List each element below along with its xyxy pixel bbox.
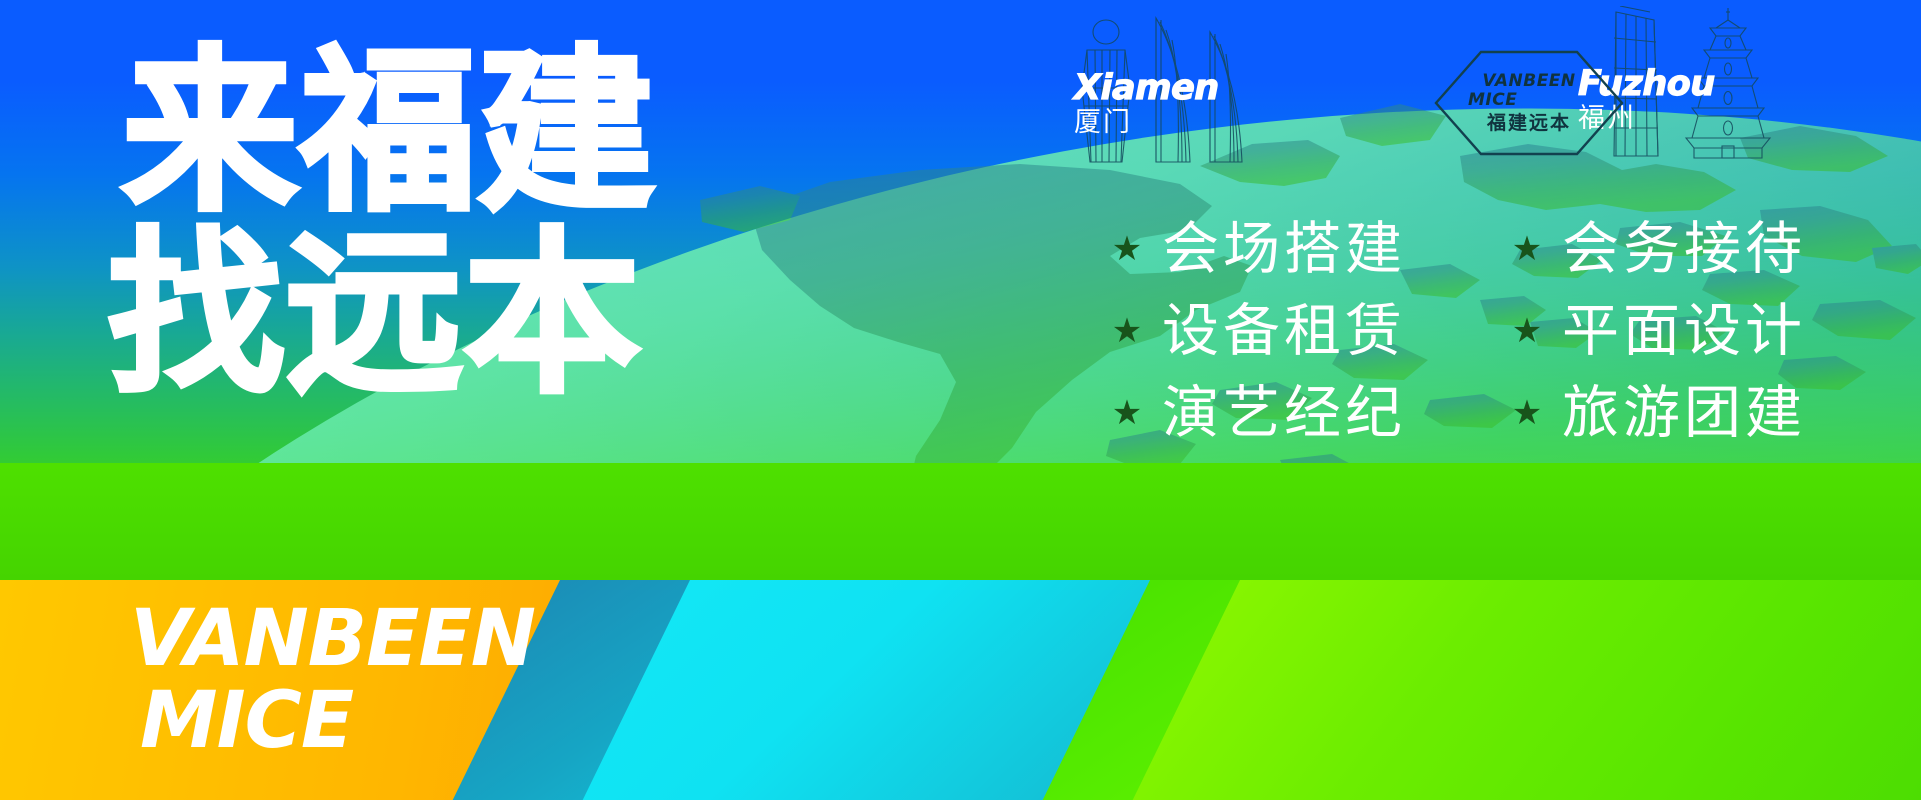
service-label: 会务接待	[1562, 218, 1806, 280]
hex-badge-text: VANBEEN MICE 福建远本	[1434, 48, 1624, 158]
promo-banner: 来福建 找远本	[0, 0, 1921, 800]
star-icon: ★	[1110, 232, 1144, 266]
star-icon: ★	[1510, 396, 1544, 430]
xiamen-label: Xiamen 厦门	[1074, 70, 1219, 138]
service-item: ★ 设备租赁	[1110, 300, 1510, 362]
service-item: ★ 平面设计	[1510, 300, 1910, 362]
services-list: ★ 会场搭建 ★ 会务接待 ★ 设备租赁 ★ 平面设计	[1110, 208, 1910, 454]
green-divider-strip	[0, 463, 1921, 580]
star-icon: ★	[1110, 314, 1144, 348]
service-label: 旅游团建	[1562, 382, 1806, 444]
city-xiamen: Xiamen 厦门	[1060, 0, 1460, 180]
hex-en-line-2: MICE	[1468, 91, 1517, 110]
vanbeen-hex-badge: VANBEEN MICE 福建远本	[1434, 48, 1624, 158]
headline: 来福建 找远本	[122, 42, 656, 406]
service-label: 演艺经纪	[1162, 382, 1406, 444]
service-item: ★ 演艺经纪	[1110, 382, 1510, 444]
brand-lockup: VANBEEN MICE	[130, 598, 535, 762]
star-icon: ★	[1510, 232, 1544, 266]
brand-line-2: MICE	[140, 680, 535, 762]
xiamen-name-cn: 厦门	[1074, 108, 1219, 138]
brand-line-1: VANBEEN	[130, 598, 535, 680]
headline-line-1: 来福建	[122, 42, 656, 224]
service-item: ★ 会场搭建	[1110, 218, 1510, 280]
service-label: 平面设计	[1562, 300, 1806, 362]
service-item: ★ 旅游团建	[1510, 382, 1910, 444]
services-row: ★ 会场搭建 ★ 会务接待	[1110, 208, 1910, 290]
xiamen-name-en: Xiamen	[1074, 70, 1219, 106]
services-row: ★ 设备租赁 ★ 平面设计	[1110, 290, 1910, 372]
hex-cn-line: 福建远本	[1487, 111, 1571, 135]
star-icon: ★	[1110, 396, 1144, 430]
star-icon: ★	[1510, 314, 1544, 348]
bottom-brand-bar: VANBEEN MICE	[0, 580, 1921, 800]
headline-line-2: 找远本	[108, 224, 656, 406]
service-label: 设备租赁	[1162, 300, 1406, 362]
services-row: ★ 演艺经纪 ★ 旅游团建	[1110, 372, 1910, 454]
service-label: 会场搭建	[1162, 218, 1406, 280]
hex-en-line-1: VANBEEN	[1482, 72, 1575, 91]
green-shard-decoration-2	[1133, 580, 1921, 800]
service-item: ★ 会务接待	[1510, 218, 1910, 280]
